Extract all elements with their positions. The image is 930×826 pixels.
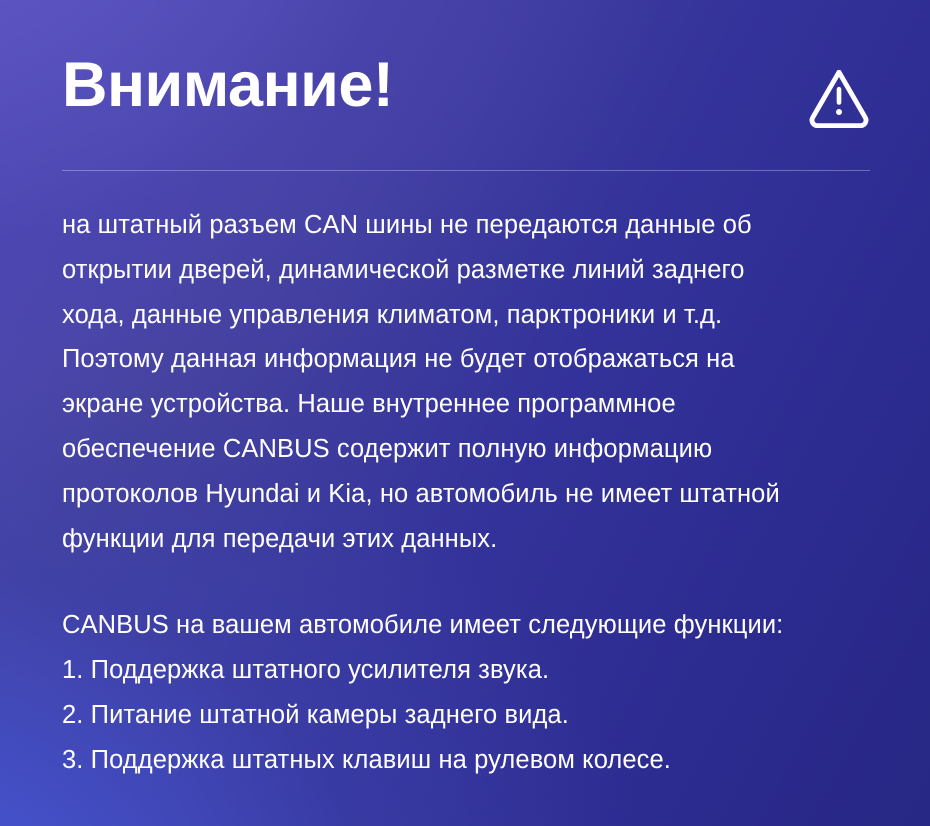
functions-heading: CANBUS на вашем автомобиле имеет следующ… bbox=[62, 603, 880, 648]
functions-list-item: 3. Поддержка штатных клавиш на рулевом к… bbox=[62, 738, 880, 783]
notice-line: на штатный разъем CAN шины не передаются… bbox=[62, 203, 880, 248]
notice-line: протоколов Hyundai и Kia, но автомобиль … bbox=[62, 472, 880, 517]
notice-paragraph: на штатный разъем CAN шины не передаются… bbox=[62, 203, 880, 561]
notice-line: функции для передачи этих данных. bbox=[62, 517, 880, 562]
notice-line: открытии дверей, динамической разметке л… bbox=[62, 248, 880, 293]
notice-line: обеспечение CANBUS содержит полную инфор… bbox=[62, 427, 880, 472]
functions-list-item: 1. Поддержка штатного усилителя звука. bbox=[62, 648, 880, 693]
notice-line: Поэтому данная информация не будет отобр… bbox=[62, 337, 880, 382]
functions-section: CANBUS на вашем автомобиле имеет следующ… bbox=[62, 603, 880, 782]
header-divider bbox=[62, 170, 870, 171]
warning-banner: Внимание! на штатный разъем CAN шины не … bbox=[0, 0, 930, 826]
notice-line: экране устройства. Наше внутреннее прогр… bbox=[62, 382, 880, 427]
warning-triangle-icon bbox=[808, 70, 870, 128]
notice-line: хода, данные управления климатом, парктр… bbox=[62, 293, 880, 338]
functions-list-item: 2. Питание штатной камеры заднего вида. bbox=[62, 693, 880, 738]
banner-header: Внимание! bbox=[62, 48, 870, 144]
banner-content: на штатный разъем CAN шины не передаются… bbox=[62, 203, 880, 783]
page-title: Внимание! bbox=[62, 48, 393, 122]
